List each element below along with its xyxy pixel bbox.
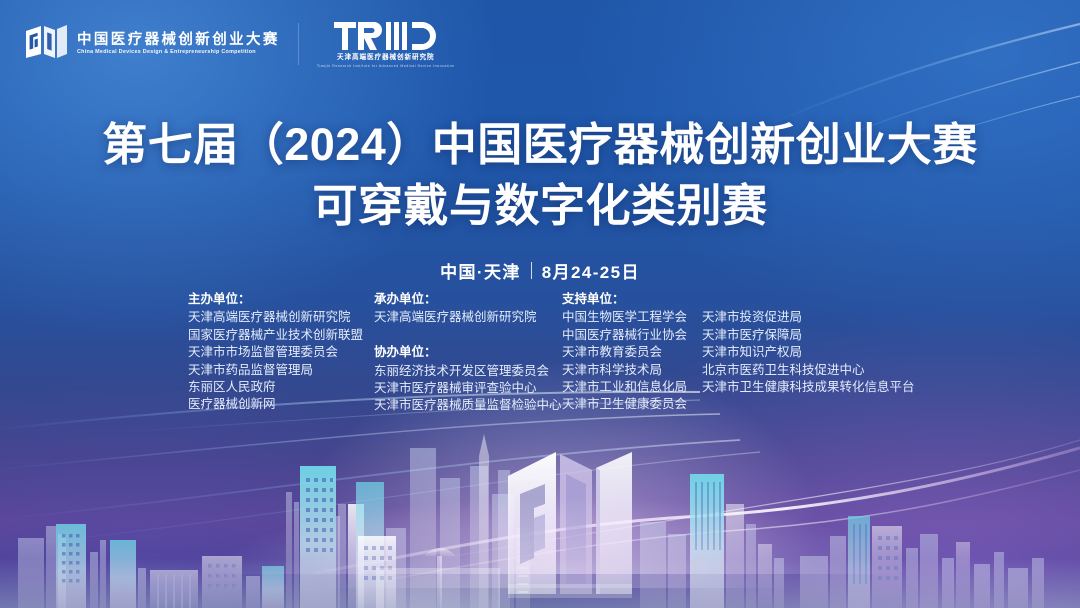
undertaker-column: 承办单位： 天津高端医疗器械创新研究院 协办单位： 东丽经济技术开发区管理委员会…	[374, 291, 562, 415]
cmdc-logo-cn: 中国医疗器械创新创业大赛	[77, 33, 280, 48]
open-book-door-landmark-building	[508, 452, 632, 598]
event-poster: 中国医疗器械创新创业大赛 China Medical Devices Desig…	[0, 0, 1080, 608]
supporter-item: 中国生物医学工程学会	[562, 309, 688, 326]
city-skyline-illustration	[0, 408, 1080, 608]
host-item: 东丽区人民政府	[188, 379, 374, 396]
co-organizer-label: 协办单位：	[374, 344, 562, 361]
cmdc-logo-text: 中国医疗器械创新创业大赛 China Medical Devices Desig…	[77, 33, 280, 55]
undertaker-label: 承办单位：	[374, 291, 562, 308]
supporter-item: 中国医疗器械行业协会	[562, 327, 688, 344]
open-book-door-logo-icon	[24, 24, 68, 64]
event-subtitle: 中国·天津 8月24-25日	[0, 258, 1080, 283]
host-item: 天津高端医疗器械创新研究院	[188, 309, 374, 326]
supporter-column: 支持单位： 中国生物医学工程学会 中国医疗器械行业协会 天津市教育委员会 天津市…	[562, 291, 915, 415]
supporter-column-b: 天津市投资促进局 天津市医疗保障局 天津市知识产权局 北京市医药卫生科技促进中心…	[702, 309, 915, 413]
cmdc-logo: 中国医疗器械创新创业大赛 China Medical Devices Desig…	[24, 24, 280, 64]
supporter-item: 北京市医药卫生科技促进中心	[702, 362, 915, 379]
logo-divider	[298, 23, 299, 65]
triid-logo: 天津高端医疗器械创新研究院 Tianjin Research Institute…	[317, 20, 455, 68]
subtitle-separator	[531, 262, 532, 279]
supporter-item: 天津市工业和信息化局	[562, 379, 688, 396]
triid-logo-en: Tianjin Research Institute for Advanced …	[317, 65, 455, 69]
undertaker-item: 天津高端医疗器械创新研究院	[374, 309, 562, 326]
title-block: 第七届（2024）中国医疗器械创新创业大赛 可穿戴与数字化类别赛 中国·天津 8…	[0, 118, 1080, 283]
supporter-item: 天津市科学技术局	[562, 362, 688, 379]
triid-logo-cn: 天津高端医疗器械创新研究院	[337, 55, 434, 62]
supporter-item: 天津市卫生健康委员会	[562, 396, 688, 413]
host-label: 主办单位：	[188, 291, 374, 308]
host-item: 天津市市场监督管理委员会	[188, 344, 374, 361]
host-item: 天津市药品监督管理局	[188, 362, 374, 379]
cmdc-logo-en: China Medical Devices Design & Entrepren…	[77, 50, 280, 56]
page-title-line2: 可穿戴与数字化类别赛	[0, 179, 1080, 232]
event-date: 8月24-25日	[542, 258, 640, 283]
organizer-block: 主办单位： 天津高端医疗器械创新研究院 国家医疗器械产业技术创新联盟 天津市市场…	[188, 291, 915, 415]
supporter-column-a: 中国生物医学工程学会 中国医疗器械行业协会 天津市教育委员会 天津市科学技术局 …	[562, 309, 688, 413]
header-logos: 中国医疗器械创新创业大赛 China Medical Devices Desig…	[24, 20, 455, 68]
supporter-item: 天津市卫生健康科技成果转化信息平台	[702, 379, 915, 396]
supporter-label: 支持单位：	[562, 291, 915, 308]
co-organizer-item: 天津市医疗器械质量监督检验中心	[374, 397, 562, 414]
page-title-line1: 第七届（2024）中国医疗器械创新创业大赛	[0, 118, 1080, 171]
supporter-subcolumns: 中国生物医学工程学会 中国医疗器械行业协会 天津市教育委员会 天津市科学技术局 …	[562, 309, 915, 413]
event-location: 中国·天津	[440, 258, 521, 283]
co-organizer-item: 东丽经济技术开发区管理委员会	[374, 363, 562, 380]
triid-wordmark-icon	[334, 20, 438, 52]
co-organizer-item: 天津市医疗器械审评查验中心	[374, 380, 562, 397]
column-spacer	[374, 327, 562, 344]
host-column: 主办单位： 天津高端医疗器械创新研究院 国家医疗器械产业技术创新联盟 天津市市场…	[188, 291, 374, 415]
host-item: 医疗器械创新网	[188, 396, 374, 413]
host-item: 国家医疗器械产业技术创新联盟	[188, 327, 374, 344]
supporter-item: 天津市医疗保障局	[702, 327, 915, 344]
ground-glow	[0, 464, 1080, 574]
supporter-item: 天津市教育委员会	[562, 344, 688, 361]
supporter-item: 天津市投资促进局	[702, 309, 915, 326]
supporter-item: 天津市知识产权局	[702, 344, 915, 361]
